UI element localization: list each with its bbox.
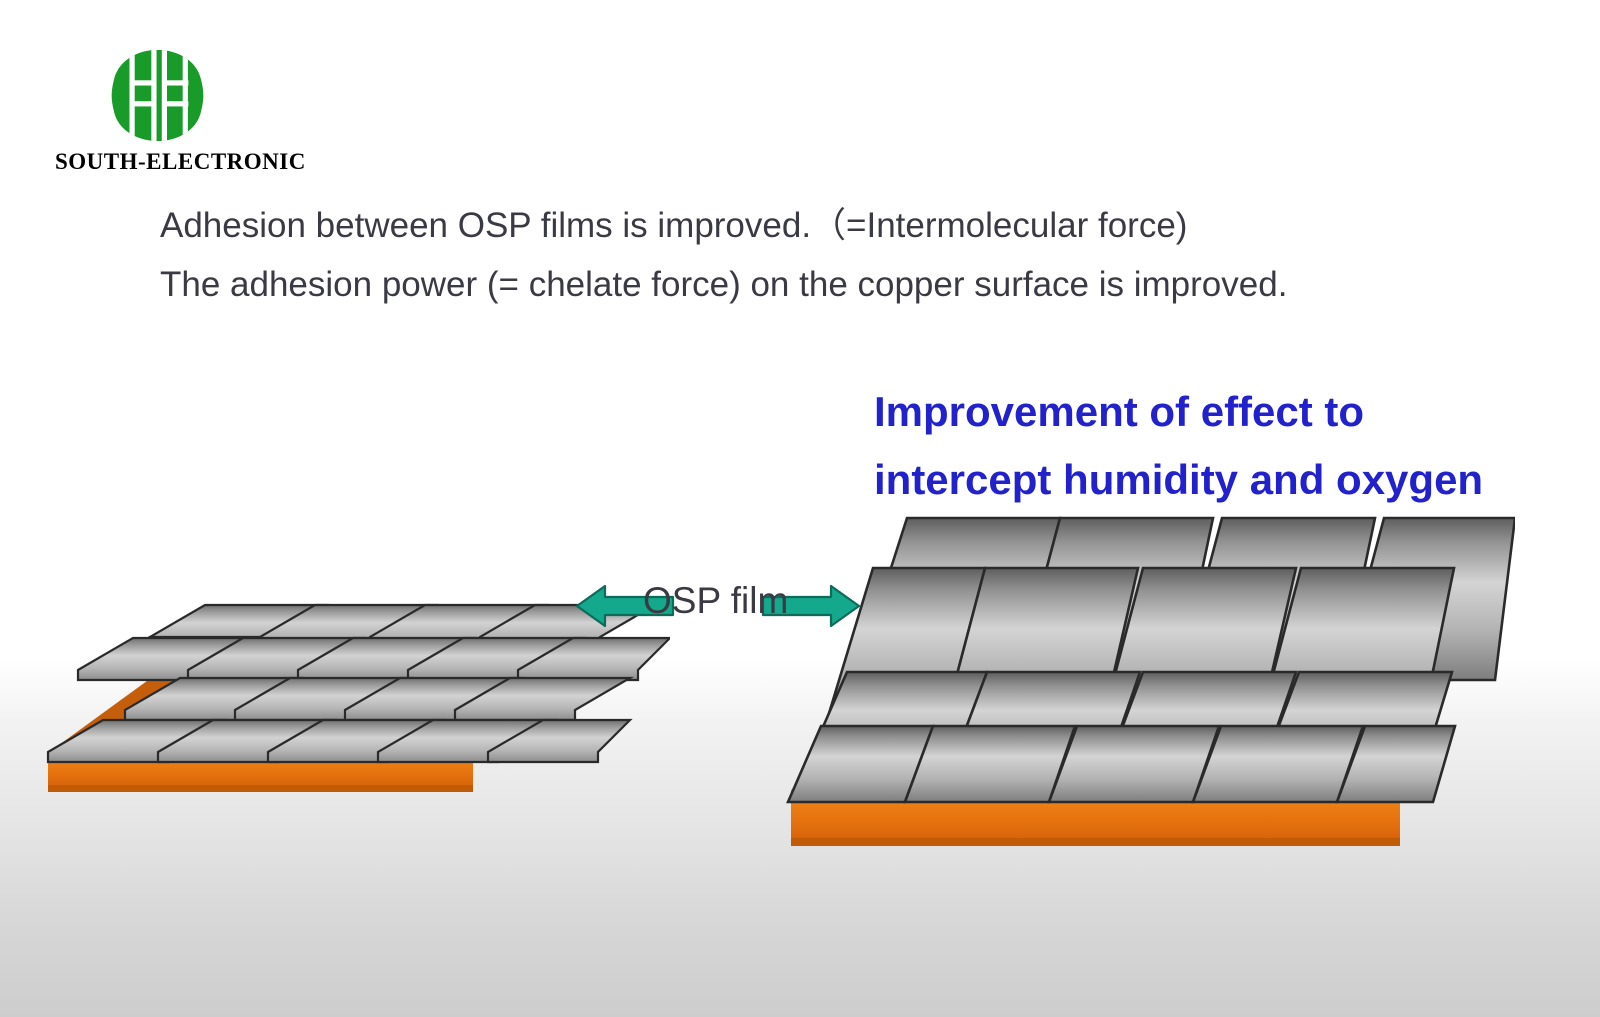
- osp-plate: [1049, 726, 1219, 802]
- osp-film-label: OSP film: [643, 580, 788, 622]
- osp-plate-grid: [788, 518, 1515, 802]
- improved-osp-film-stack-diagram: [755, 490, 1515, 860]
- osp-plate: [905, 726, 1075, 802]
- conventional-osp-film-stack-diagram: [30, 520, 670, 840]
- osp-plate: [1193, 726, 1363, 802]
- osp-plate-row: [78, 638, 670, 680]
- intro-line-1: Adhesion between OSP films is improved.（…: [160, 196, 1460, 255]
- brand-wordmark: SOUTH-ELECTRONIC: [55, 149, 355, 175]
- brand-logo-block: SOUTH-ELECTRONIC: [55, 48, 355, 175]
- intro-line-2: The adhesion power (= chelate force) on …: [160, 255, 1460, 314]
- headline-line-1: Improvement of effect to: [874, 378, 1534, 446]
- osp-film-callout: OSP film: [575, 572, 855, 638]
- osp-plate-row: [125, 678, 630, 720]
- osp-plate-row: [788, 726, 1455, 802]
- intro-text-block: Adhesion between OSP films is improved.（…: [160, 196, 1460, 314]
- south-electronic-h-logo-icon: [110, 48, 205, 143]
- osp-plate-row: [48, 720, 630, 762]
- slide-canvas: SOUTH-ELECTRONIC Adhesion between OSP fi…: [0, 0, 1600, 1017]
